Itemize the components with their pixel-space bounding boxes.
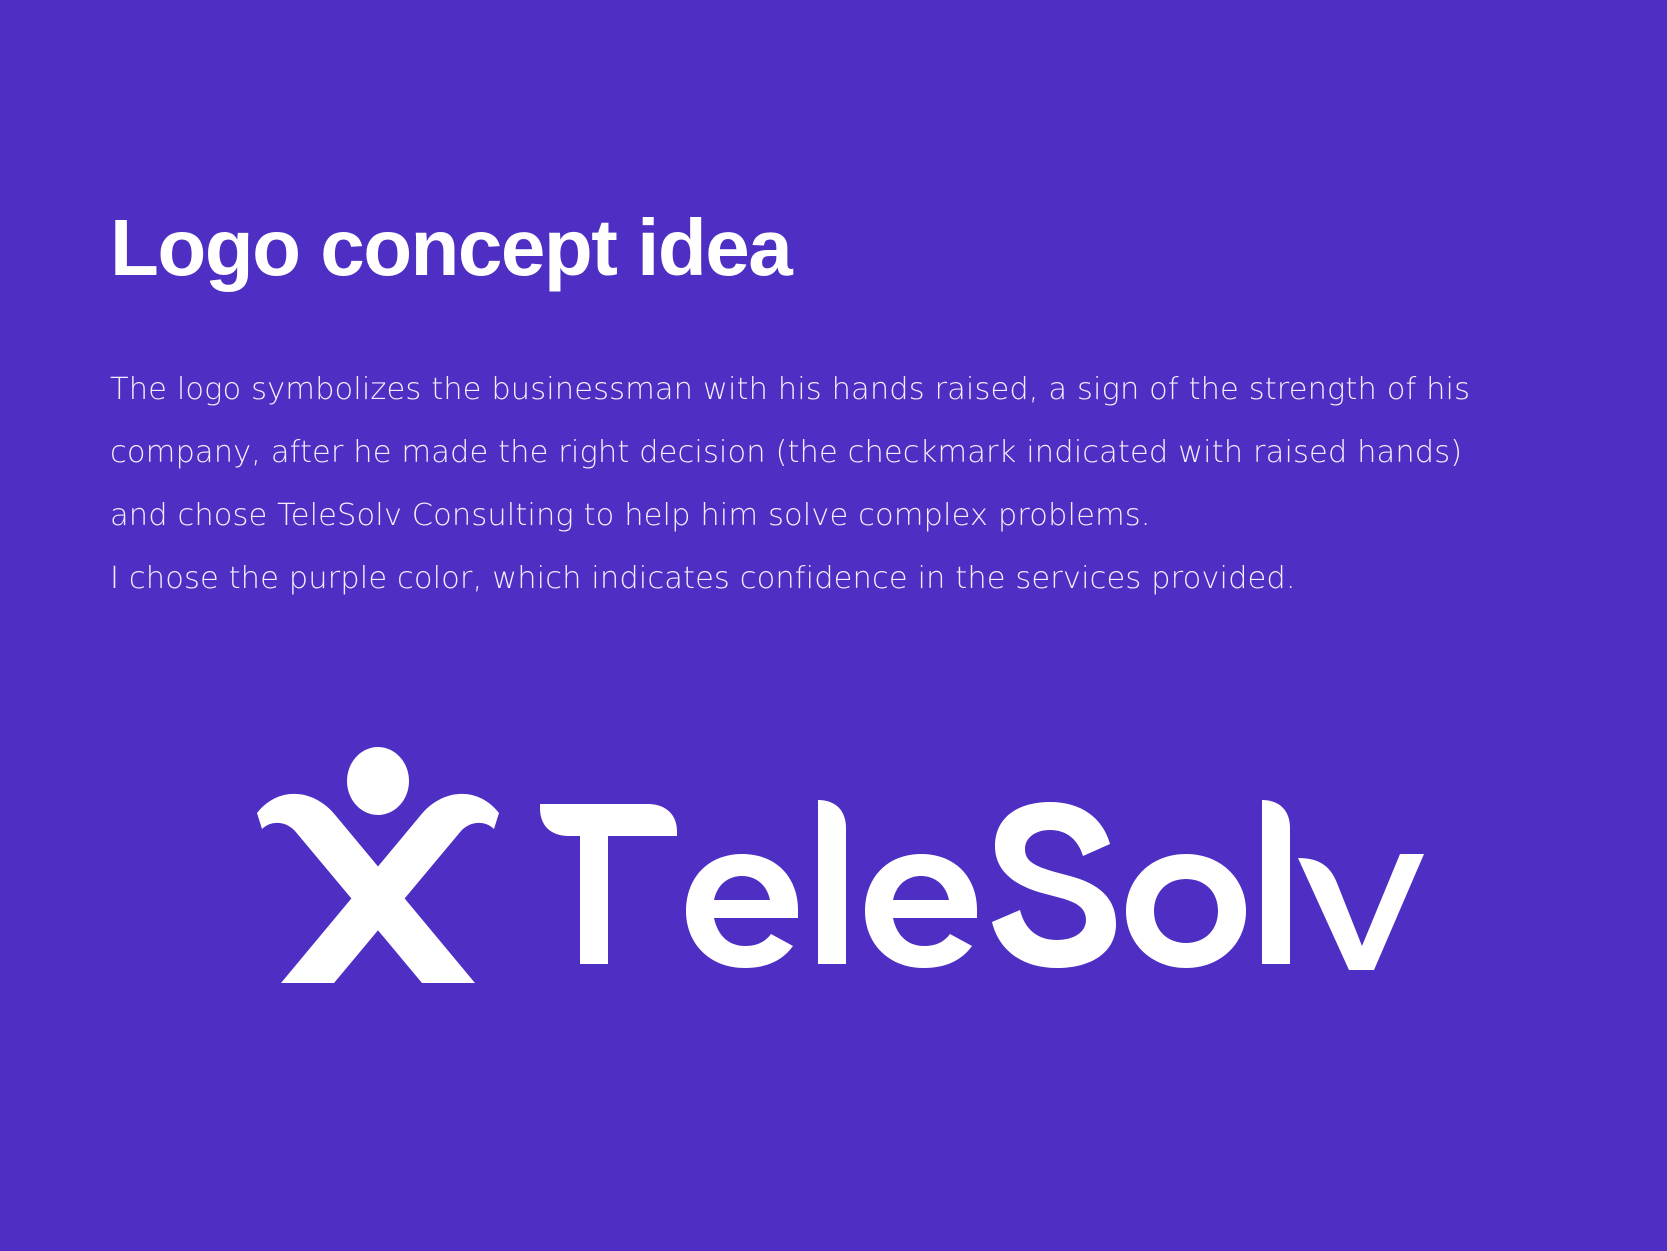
description-paragraph-1: The logo symbolizes the businessman with… [110,358,1480,547]
telesolv-x-person-mark-icon [248,738,508,988]
description-paragraph-2: I chose the purple color, which indicate… [110,547,1510,610]
page-title: Logo concept idea [110,208,791,288]
telesolv-wordmark-v-letter [1296,854,1426,972]
slide-canvas: Logo concept idea The logo symbolizes th… [0,0,1667,1251]
telesolv-wordmark: TeleSolv [536,796,1296,971]
description-block: The logo symbolizes the businessman with… [110,358,1510,610]
logo-lockup: TeleSolv [248,738,1328,988]
